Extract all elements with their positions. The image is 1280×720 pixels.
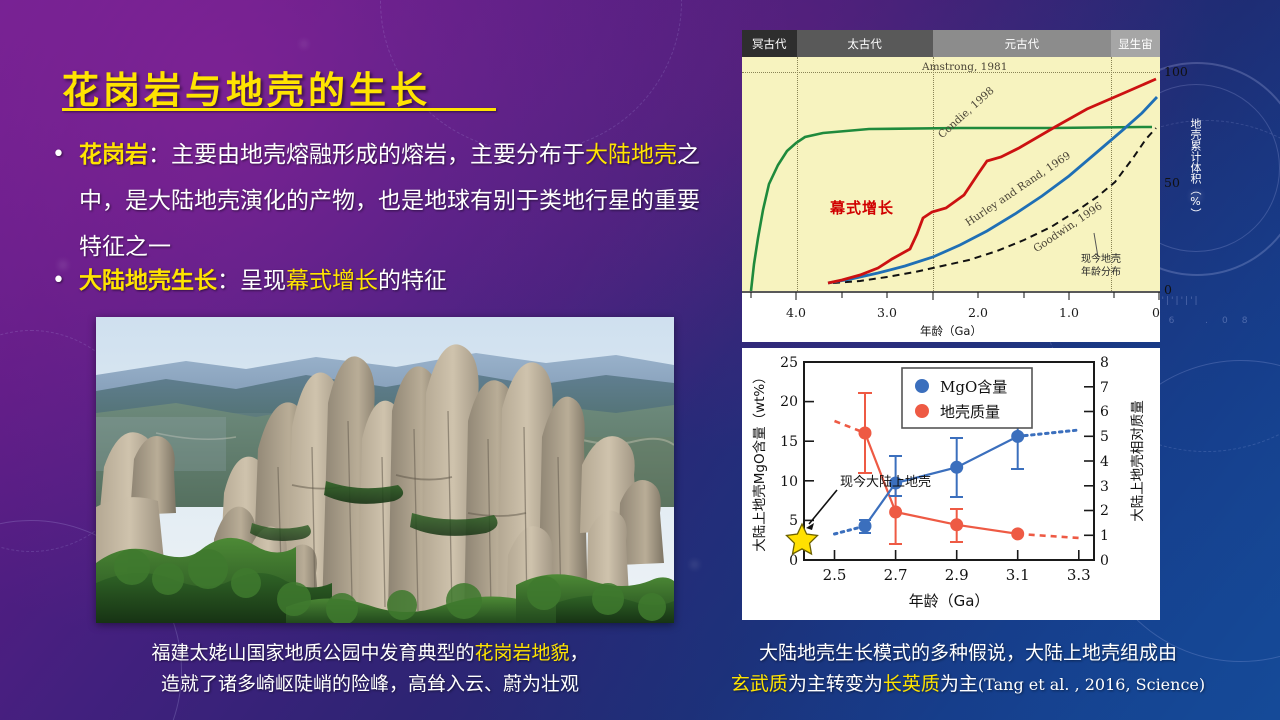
granite-landscape-photo [96,317,674,623]
svg-text:3.1: 3.1 [1006,566,1030,584]
title-underline [62,108,496,111]
svg-text:0: 0 [789,553,798,569]
svg-text:0: 0 [1100,553,1109,569]
bullet-marker: • [52,132,65,178]
era-proterozoic: 元古代 [933,30,1111,57]
xtick-1-0: 1.0 [1059,305,1079,320]
svg-text:2.5: 2.5 [823,566,847,584]
annotation-present-crust-age: 现今地壳年龄分布 [1064,253,1138,279]
ytick-50: 50 [1164,175,1180,190]
era-archean: 太古代 [797,30,933,57]
svg-text:4: 4 [1100,454,1109,470]
photo-caption: 福建太姥山国家地质公园中发育典型的花岗岩地貌， 造就了诸多崎岖陡峭的险峰，高耸入… [60,638,680,700]
page-title: 花岗岩与地壳的生长 [62,60,431,114]
legend-swatch-mgo [915,379,929,393]
annotation-episodic-growth: 幕式增长 [830,197,894,218]
svg-text:5: 5 [789,513,798,529]
bullet-item-1: • 花岗岩：主要由地壳熔融形成的熔岩，主要分布于大陆地壳之中，是大陆地壳演化的产… [52,132,732,270]
xaxis-title-bottom: 年龄（Ga） [909,592,990,610]
slide-canvas: |'|'|'|'|'|'|'| .06 .08 花岗岩与地壳的生长 • 花岗岩：… [0,0,1280,720]
svg-text:8: 8 [1100,355,1109,371]
ucc-chart-svg: 0510 152025 012 345 678 [742,348,1160,620]
bullet-marker: • [52,258,65,304]
bullet-text-1: 花岗岩：主要由地壳熔融形成的熔岩，主要分布于大陆地壳之中，是大陆地壳演化的产物，… [79,132,719,270]
xaxis-title-top: 年龄（Ga） [742,323,1160,339]
svg-text:3: 3 [1100,479,1109,495]
svg-text:25: 25 [780,355,798,371]
svg-text:2.7: 2.7 [884,566,908,584]
chart-caption: 大陆地壳生长模式的多种假说，大陆上地壳组成由 玄武质为主转变为长英质为主(Tan… [662,638,1274,700]
ytick-100: 100 [1164,64,1188,79]
chart-legend: MgO含量 地壳质量 [902,368,1032,428]
crust-growth-plot-area: 幕式增长 Amstrong, 1981 Condie, 1998 Hurley … [742,57,1160,291]
svg-text:5: 5 [1100,429,1109,445]
era-phanerozoic: 显生宙 [1111,30,1160,57]
svg-text:15: 15 [780,434,798,450]
legend-label-mass: 地壳质量 [940,403,1000,421]
legend-label-mgo: MgO含量 [940,378,1007,396]
xtick-3-0: 3.0 [877,305,897,320]
ucc-mgo-mass-chart: 0510 152025 012 345 678 [742,348,1160,620]
svg-text:7: 7 [1100,380,1109,396]
xtick-0: 0 [1152,305,1160,320]
svg-text:3.3: 3.3 [1067,566,1091,584]
xtick-4-0: 4.0 [786,305,806,320]
svg-text:1: 1 [1100,528,1109,544]
ytick-0: 0 [1164,282,1172,297]
yaxis-title-top: 地壳累计体积（%） [1182,118,1202,219]
crust-growth-xaxis: 4.0 3.0 2.0 1.0 0 年龄（Ga） [742,291,1160,342]
era-hadean: 冥古代 [742,30,797,57]
right-axis-labels: 012 345 678 [1100,355,1109,569]
annotation-present-ucc-label: 现今大陆上地壳 [840,474,931,490]
svg-text:20: 20 [780,394,798,410]
legend-swatch-mass [915,404,929,418]
svg-text:10: 10 [780,474,798,490]
geologic-era-bar: 冥古代 太古代 元古代 显生宙 [742,30,1160,57]
deco-speck-3 [300,40,308,48]
yaxis-title-left: 大陆上地壳MgO含量（wt%） [752,370,768,552]
bullet-item-2: • 大陆地壳生长：呈现幕式增长的特征 [52,258,732,304]
annotation-armstrong-label: Amstrong, 1981 [922,61,1007,73]
svg-text:2.9: 2.9 [945,566,969,584]
xtick-2-0: 2.0 [968,305,988,320]
svg-text:2: 2 [1100,503,1109,519]
deco-speck-5 [690,560,699,569]
bullet-text-2: 大陆地壳生长：呈现幕式增长的特征 [79,258,447,304]
yaxis-title-right: 大陆上地壳相对质量 [1130,400,1146,522]
crust-growth-chart: 冥古代 太古代 元古代 显生宙 幕式增长 Amstrong, 19 [742,30,1160,342]
svg-text:6: 6 [1100,404,1109,420]
